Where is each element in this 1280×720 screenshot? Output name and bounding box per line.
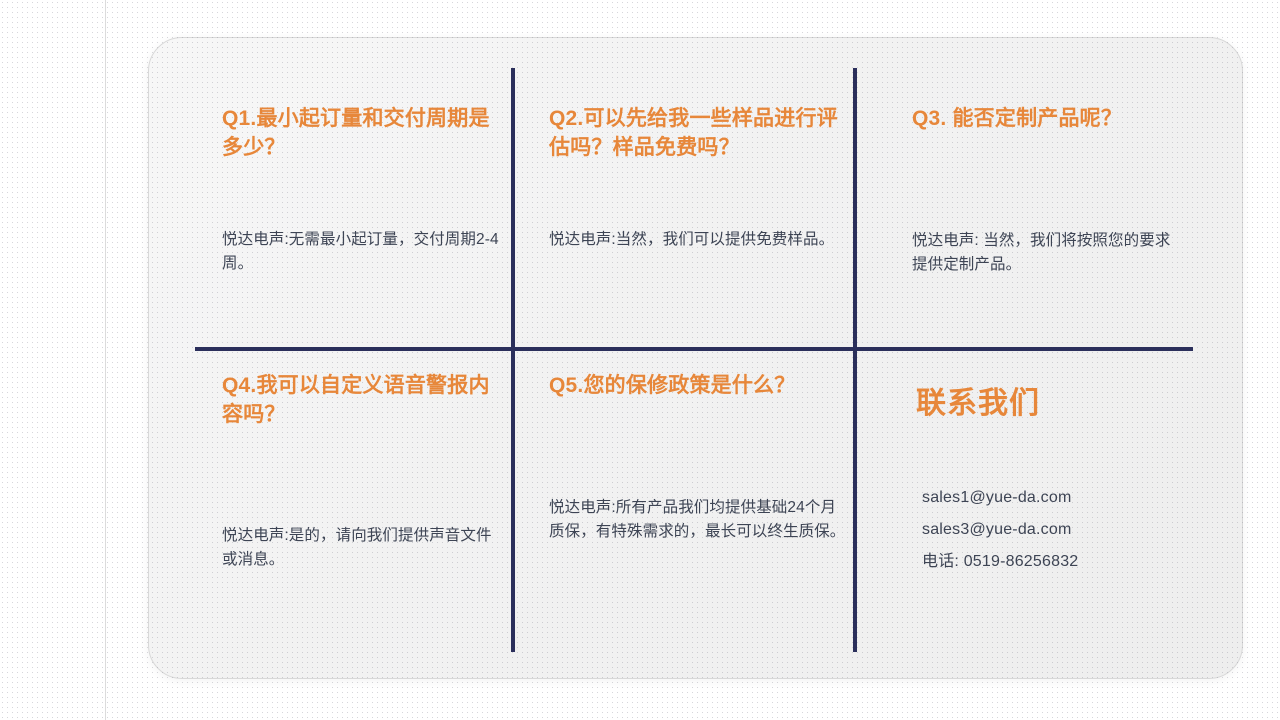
- faq-question-q1: Q1.最小起订量和交付周期是多少？: [222, 104, 500, 162]
- contact-phone[interactable]: 电话: 0519-86256832: [922, 546, 1196, 578]
- contact-email-1[interactable]: sales1@yue-da.com: [922, 482, 1196, 514]
- faq-question-q4: Q4.我可以自定义语音警报内容吗？: [222, 371, 500, 429]
- faq-answer-q5: 悦达电声:所有产品我们均提供基础24个月质保，有特殊需求的，最长可以终生质保。: [549, 496, 849, 544]
- faq-answer-q2: 悦达电声:当然，我们可以提供免费样品。: [549, 228, 841, 252]
- contact-list: sales1@yue-da.com sales3@yue-da.com 电话: …: [922, 482, 1196, 578]
- faq-cell-q5: Q5.您的保修政策是什么？ 悦达电声:所有产品我们均提供基础24个月质保，有特殊…: [549, 371, 849, 544]
- faq-question-q3: Q3. 能否定制产品呢？: [912, 104, 1184, 133]
- faq-answer-q3: 悦达电声: 当然，我们将按照您的要求提供定制产品。: [912, 229, 1184, 277]
- faq-cell-q4: Q4.我可以自定义语音警报内容吗？ 悦达电声:是的，请向我们提供声音文件或消息。: [222, 371, 500, 572]
- faq-cell-q1: Q1.最小起订量和交付周期是多少？ 悦达电声:无需最小起订量，交付周期2-4周。: [222, 104, 500, 276]
- faq-cell-q3: Q3. 能否定制产品呢？ 悦达电声: 当然，我们将按照您的要求提供定制产品。: [912, 104, 1184, 277]
- faq-question-q2: Q2.可以先给我一些样品进行评估吗？样品免费吗？: [549, 104, 841, 162]
- vertical-divider-right: [853, 68, 857, 652]
- vertical-divider-left: [511, 68, 515, 652]
- faq-question-q5: Q5.您的保修政策是什么？: [549, 371, 849, 400]
- faq-slide: Q1.最小起订量和交付周期是多少？ 悦达电声:无需最小起订量，交付周期2-4周。…: [0, 0, 1280, 720]
- faq-answer-q4: 悦达电声:是的，请向我们提供声音文件或消息。: [222, 524, 500, 572]
- contact-email-2[interactable]: sales3@yue-da.com: [922, 514, 1196, 546]
- contact-block: 联系我们 sales1@yue-da.com sales3@yue-da.com…: [916, 384, 1196, 578]
- faq-cell-q2: Q2.可以先给我一些样品进行评估吗？样品免费吗？ 悦达电声:当然，我们可以提供免…: [549, 104, 841, 252]
- left-margin-rule: [105, 0, 106, 720]
- faq-answer-q1: 悦达电声:无需最小起订量，交付周期2-4周。: [222, 228, 500, 276]
- contact-title: 联系我们: [916, 384, 1196, 424]
- horizontal-divider: [195, 347, 1193, 351]
